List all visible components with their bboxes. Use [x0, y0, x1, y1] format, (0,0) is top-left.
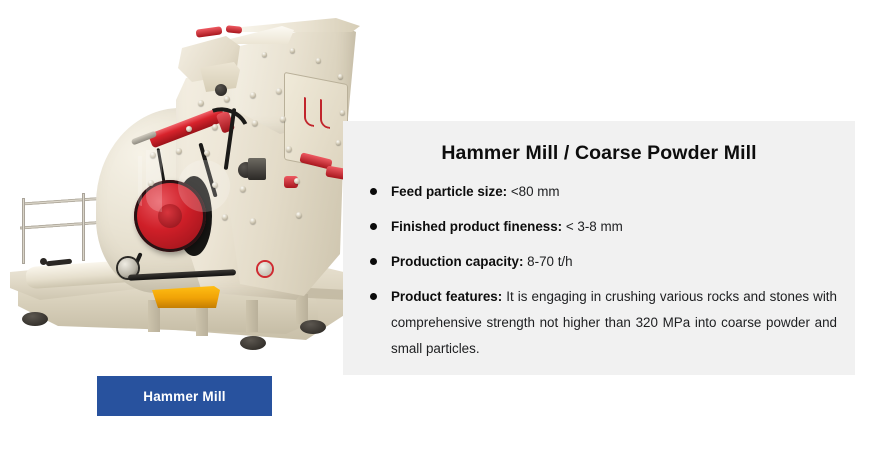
top-red-clip — [226, 25, 243, 34]
page-title: Hammer Mill / Coarse Powder Mill — [343, 142, 855, 165]
bolt-stud — [186, 126, 192, 132]
bolt-stud — [296, 212, 302, 218]
list-item: Feed particle size: <80 mm — [369, 179, 837, 205]
bullet-icon — [370, 258, 377, 265]
bolt-stud — [286, 146, 292, 152]
bolt-stud — [212, 182, 218, 188]
top-red-lever — [196, 26, 223, 38]
railing-post-left — [22, 198, 25, 264]
bolt-stud — [212, 124, 218, 130]
hammer-mill-button-label: Hammer Mill — [143, 389, 225, 404]
bolt-stud — [316, 58, 321, 63]
list-item: Finished product fineness: < 3-8 mm — [369, 214, 837, 240]
machine-foot-left — [22, 312, 48, 326]
bolt-stud — [340, 110, 345, 115]
hammer-mill-button[interactable]: Hammer Mill — [97, 376, 272, 416]
bolt-stud — [176, 148, 182, 154]
bolt-stud — [252, 120, 258, 126]
bolt-stud — [276, 88, 282, 94]
bolt-stud — [250, 92, 256, 98]
red-handle-2 — [320, 99, 330, 129]
red-handle-1 — [304, 97, 314, 127]
spec-list: Feed particle size: <80 mm Finished prod… — [343, 179, 855, 362]
spec-label: Feed particle size: — [391, 184, 507, 199]
red-valve — [258, 262, 272, 276]
bolt-stud — [250, 218, 256, 224]
product-showcase: Hammer Mill / Coarse Powder Mill Feed pa… — [0, 0, 886, 457]
bolt-stud — [280, 116, 286, 122]
bolt-stud — [198, 100, 204, 106]
bolt-stud — [224, 96, 230, 102]
machine-foot-front — [240, 336, 266, 350]
spec-value: <80 mm — [507, 184, 559, 199]
bolt-stud — [338, 74, 343, 79]
bolt-stud — [240, 186, 246, 192]
spec-value: < 3-8 mm — [562, 219, 623, 234]
inspection-cap — [215, 84, 227, 96]
bolt-stud — [204, 150, 210, 156]
machine-foot-right — [300, 320, 326, 334]
list-item: Product features: It is engaging in crus… — [369, 284, 837, 362]
red-flywheel — [134, 180, 206, 252]
spec-label: Finished product fineness: — [391, 219, 562, 234]
spec-label: Production capacity: — [391, 254, 523, 269]
control-block — [248, 158, 266, 180]
bullet-icon — [370, 188, 377, 195]
trough-knob — [40, 258, 47, 265]
base-rib-4 — [296, 294, 308, 324]
bullet-icon — [370, 293, 377, 300]
bolt-stud — [222, 214, 228, 220]
bullet-icon — [370, 223, 377, 230]
bolt-stud — [262, 52, 267, 57]
spec-value: 8-70 t/h — [523, 254, 572, 269]
railing-post-mid — [82, 193, 85, 261]
hammer-mill-product-image — [0, 0, 400, 400]
specification-panel: Hammer Mill / Coarse Powder Mill Feed pa… — [343, 121, 855, 375]
bolt-stud — [148, 180, 154, 186]
base-rib-3 — [246, 300, 258, 332]
bolt-stud — [294, 178, 300, 184]
bolt-stud — [150, 152, 156, 158]
bolt-stud — [336, 140, 341, 145]
bolt-stud — [290, 48, 295, 53]
list-item: Production capacity: 8-70 t/h — [369, 249, 837, 275]
spec-label: Product features: — [391, 289, 502, 304]
